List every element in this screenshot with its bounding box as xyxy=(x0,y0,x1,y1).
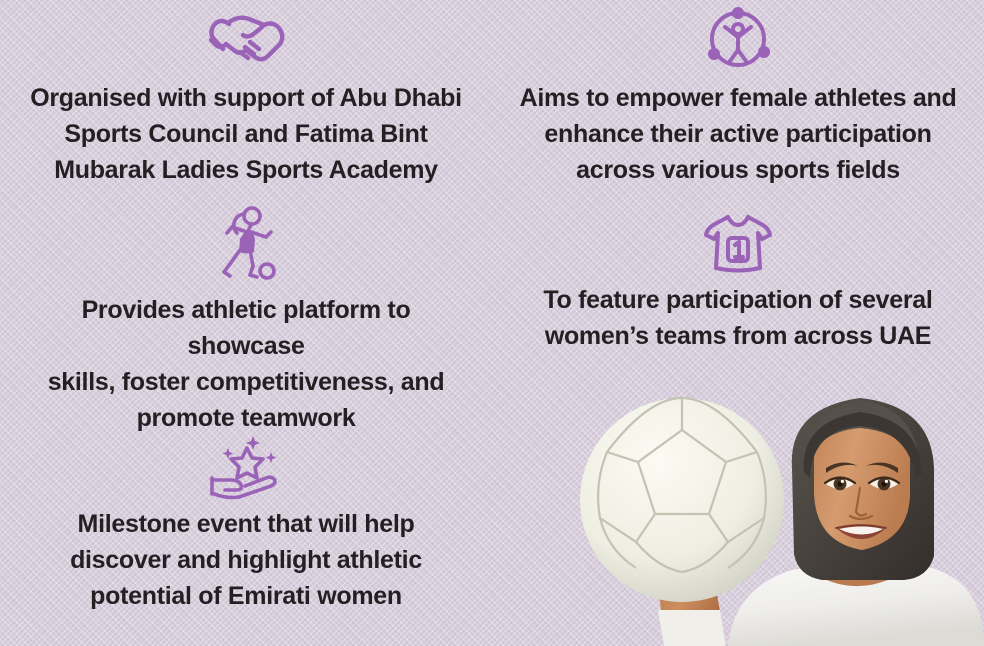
hand-holding-star-icon xyxy=(201,432,291,500)
cell-support: Organised with support of Abu Dhabi Spor… xyxy=(0,4,492,188)
photo-football xyxy=(580,398,784,602)
female-footballer-photo xyxy=(560,372,984,646)
cell-support-text: Organised with support of Abu Dhabi Spor… xyxy=(30,80,462,188)
cell-milestone: Milestone event that will help discover … xyxy=(0,432,492,614)
female-footballer-icon xyxy=(210,206,282,286)
cell-empower: Aims to empower female athletes and enha… xyxy=(492,4,984,188)
infographic-page: Organised with support of Abu Dhabi Spor… xyxy=(0,0,984,646)
cell-teams: To feature participation of several wome… xyxy=(492,212,984,354)
handshake-icon xyxy=(198,4,294,74)
cell-platform-text: Provides athletic platform to showcase s… xyxy=(20,292,472,436)
person-raised-arms-circle-icon xyxy=(701,4,775,74)
cell-milestone-text: Milestone event that will help discover … xyxy=(70,506,422,614)
cell-empower-text: Aims to empower female athletes and enha… xyxy=(520,80,957,188)
cell-teams-text: To feature participation of several wome… xyxy=(543,282,932,354)
jersey-number-one-icon xyxy=(701,212,775,276)
cell-platform: Provides athletic platform to showcase s… xyxy=(0,206,492,436)
